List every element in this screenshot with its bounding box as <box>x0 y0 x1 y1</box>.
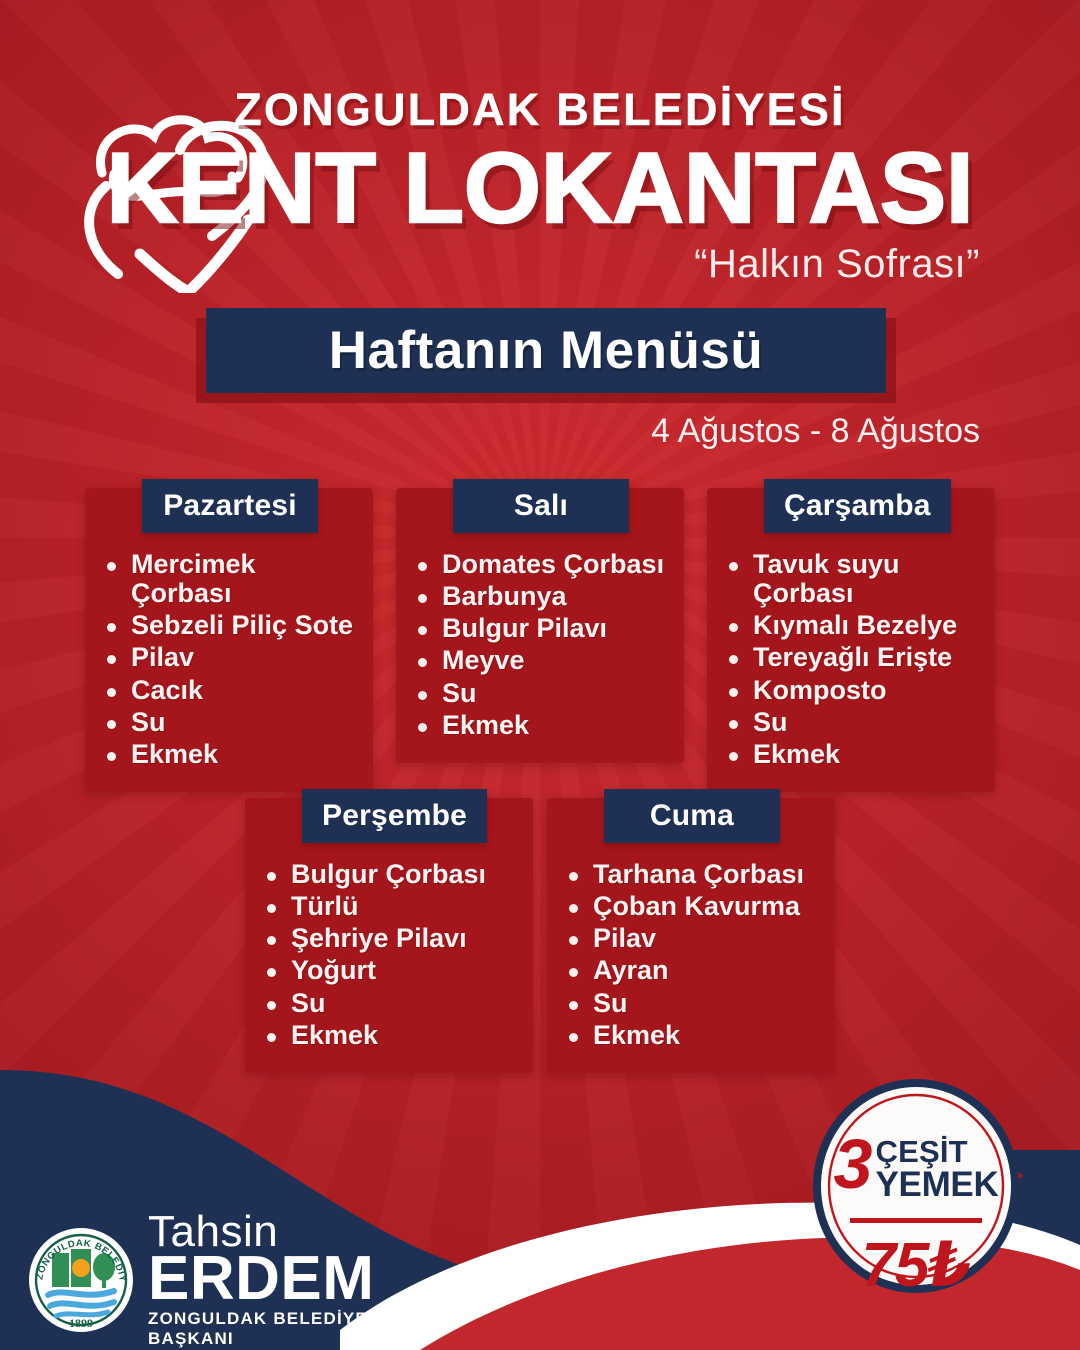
menu-item: Yoğurt <box>291 956 519 985</box>
svg-text:1899: 1899 <box>69 1316 93 1330</box>
day-card-body: Tavuk suyu Çorbası Kıymalı Bezelye Terey… <box>707 488 995 792</box>
menu-item: Cacık <box>131 676 359 705</box>
badge-word-cesit: ÇEŞİT <box>875 1138 998 1167</box>
brand-text: ZONGULDAK BELEDİYESİ KENT LOKANTASI <box>0 60 1080 237</box>
menu-list: Domates Çorbası Barbunya Bulgur Pilavı M… <box>396 550 684 763</box>
menu-item: Su <box>131 708 359 737</box>
day-card-pazartesi: Pazartesi Mercimek Çorbası Sebzeli Piliç… <box>85 488 373 792</box>
menu-item: Bulgur Pilavı <box>442 614 670 643</box>
menu-item: Şehriye Pilavı <box>291 924 519 953</box>
menu-item: Ekmek <box>442 711 670 740</box>
menu-item: Domates Çorbası <box>442 550 670 579</box>
mayor-logo-block: ZONGULDAK BELEDİYESİ 1899 Tahsin ERDEM Z… <box>28 1220 428 1340</box>
day-card-carsamba: Çarşamba Tavuk suyu Çorbası Kıymalı Beze… <box>707 488 995 792</box>
mayor-name-block: Tahsin ERDEM ZONGULDAK BELEDİYE BAŞKANI <box>148 1211 428 1350</box>
menu-item: Ekmek <box>753 740 981 769</box>
menu-item: Pilav <box>593 924 821 953</box>
date-range: 4 Ağustos - 8 Ağustos <box>651 412 980 451</box>
menu-item: Tereyağlı Erişte <box>753 643 981 672</box>
menu-item: Su <box>442 679 670 708</box>
menu-item: Bulgur Çorbası <box>291 860 519 889</box>
menu-item: Kıymalı Bezelye <box>753 611 981 640</box>
day-card-header: Salı <box>453 479 629 533</box>
menu-item: Komposto <box>753 676 981 705</box>
organization-name: ZONGULDAK BELEDİYESİ <box>0 84 1080 136</box>
page-title: KENT LOKANTASI <box>0 138 1080 237</box>
day-card-header: Cuma <box>604 789 780 843</box>
banner-title: Haftanın Menüsü <box>329 320 763 381</box>
day-card-header: Perşembe <box>302 789 487 843</box>
zonguldak-municipality-seal-icon: ZONGULDAK BELEDİYESİ 1899 <box>28 1227 134 1333</box>
day-name: Salı <box>514 489 568 523</box>
day-card-body: Mercimek Çorbası Sebzeli Piliç Sote Pila… <box>85 488 373 792</box>
header: ZONGULDAK BELEDİYESİ KENT LOKANTASI “Hal… <box>0 60 1080 300</box>
menu-item: Tavuk suyu Çorbası <box>753 550 981 608</box>
mayor-role: ZONGULDAK BELEDİYE BAŞKANI <box>148 1309 428 1349</box>
day-cards-row-1: Pazartesi Mercimek Çorbası Sebzeli Piliç… <box>85 488 995 792</box>
menu-item: Meyve <box>442 646 670 675</box>
badge-divider <box>850 1218 982 1223</box>
menu-item: Tarhana Çorbası <box>593 860 821 889</box>
day-name: Çarşamba <box>784 489 931 523</box>
price-badge-text: 3 ÇEŞİT YEMEK 75₺ <box>812 1078 1020 1294</box>
menu-item: Türlü <box>291 892 519 921</box>
mayor-last-name: ERDEM <box>148 1250 428 1307</box>
menu-item: Çoban Kavurma <box>593 892 821 921</box>
banner-box: Haftanın Menüsü <box>206 308 886 393</box>
menu-item: Su <box>753 708 981 737</box>
day-name: Perşembe <box>322 799 467 833</box>
menu-item: Barbunya <box>442 582 670 611</box>
badge-count: 3 <box>834 1136 871 1192</box>
menu-item: Sebzeli Piliç Sote <box>131 611 359 640</box>
menu-list: Mercimek Çorbası Sebzeli Piliç Sote Pila… <box>85 550 373 792</box>
poster: ZONGULDAK BELEDİYESİ KENT LOKANTASI “Hal… <box>0 0 1080 1350</box>
badge-word-yemek: YEMEK <box>875 1168 998 1201</box>
day-name: Cuma <box>650 799 734 833</box>
menu-item: Ayran <box>593 956 821 985</box>
menu-item: Mercimek Çorbası <box>131 550 359 608</box>
brand-tagline: “Halkın Sofrası” <box>694 242 980 287</box>
day-card-sali: Salı Domates Çorbası Barbunya Bulgur Pil… <box>396 488 684 792</box>
menu-item: Su <box>593 989 821 1018</box>
day-card-header: Pazartesi <box>142 479 318 533</box>
menu-item: Su <box>291 989 519 1018</box>
day-name: Pazartesi <box>163 489 297 523</box>
badge-price: 75₺ <box>812 1228 1020 1301</box>
day-card-header: Çarşamba <box>764 479 951 533</box>
menu-list: Tavuk suyu Çorbası Kıymalı Bezelye Terey… <box>707 550 995 792</box>
menu-item: Ekmek <box>131 740 359 769</box>
menu-item: Pilav <box>131 643 359 672</box>
price-badge: 3 ÇEŞİT YEMEK 75₺ <box>812 1078 1020 1294</box>
